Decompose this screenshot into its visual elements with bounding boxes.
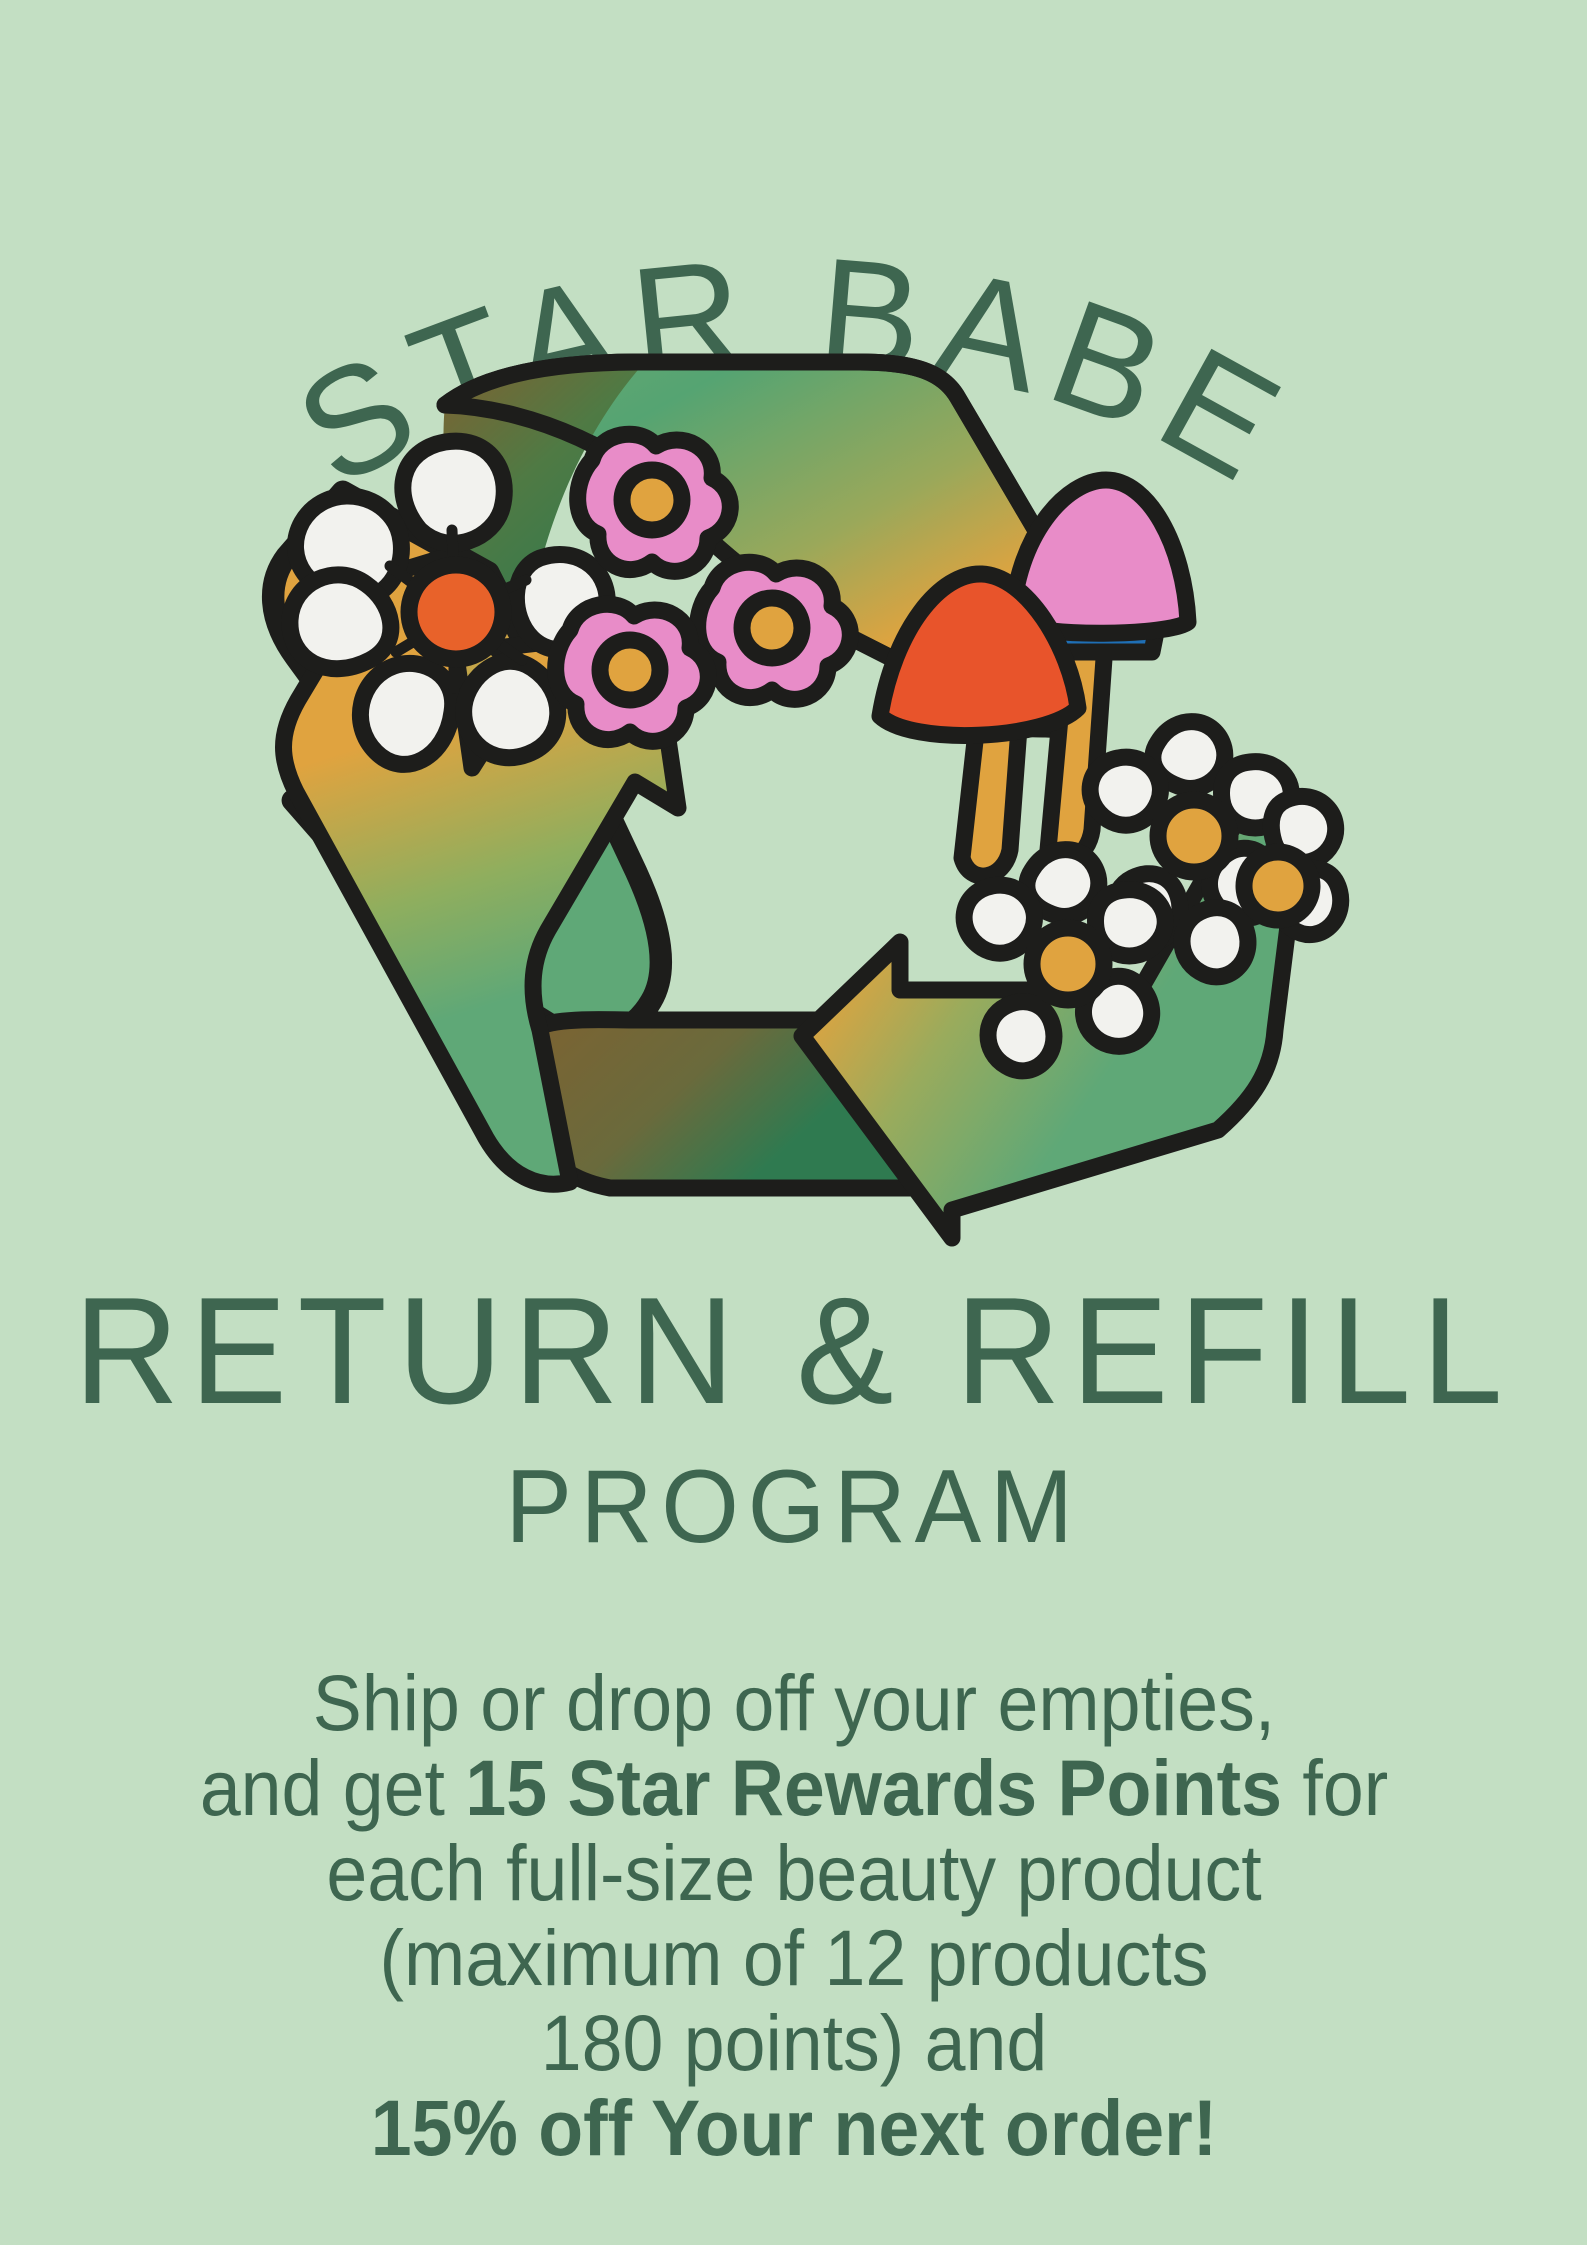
page-title: RETURN & REFILL xyxy=(32,1275,1556,1427)
body-line-6: 15% off Your next order! xyxy=(133,2085,1454,2170)
body-copy: Ship or drop off your empties, and get 1… xyxy=(133,1660,1454,2170)
body-line-1: Ship or drop off your empties, xyxy=(133,1660,1454,1745)
body-line-4: (maximum of 12 products xyxy=(133,1915,1454,2000)
body-line-3: each full-size beauty product xyxy=(133,1830,1454,1915)
body-line-2-after: for xyxy=(1282,1743,1388,1832)
discount-highlight: 15% off Your next order! xyxy=(370,2083,1216,2172)
body-line-5: 180 points) and xyxy=(133,2000,1454,2085)
headline-block: RETURN & REFILL PROGRAM xyxy=(0,1275,1587,1559)
body-line-2: and get 15 Star Rewards Points for xyxy=(133,1745,1454,1830)
body-line-2-before: and get xyxy=(199,1743,465,1832)
rewards-points-highlight: 15 Star Rewards Points xyxy=(465,1743,1282,1832)
page-subtitle: PROGRAM xyxy=(32,1455,1556,1559)
poster-canvas: STAR BABE xyxy=(0,0,1587,2245)
recycling-illustration xyxy=(240,330,1350,1260)
